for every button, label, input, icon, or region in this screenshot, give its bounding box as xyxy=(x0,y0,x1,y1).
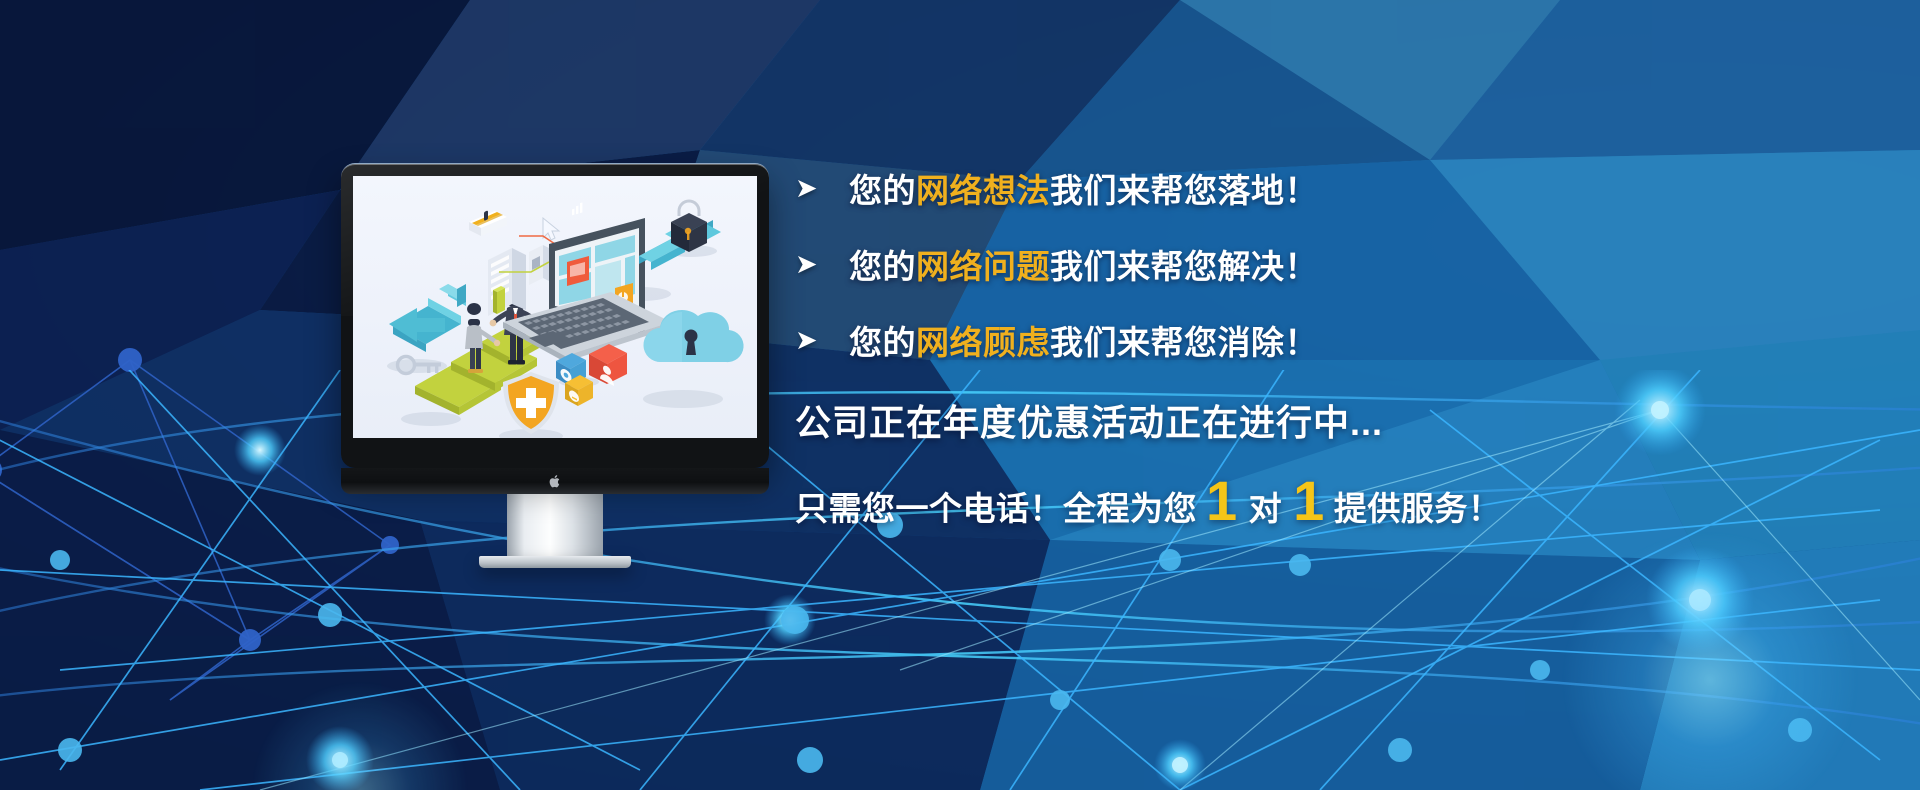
cta-lead: 只需您一个电话！全程为您 xyxy=(795,482,1197,530)
bullet-3-pre: 您的 xyxy=(849,324,916,361)
promo-line: 公司正在年度优惠活动正在进行中... xyxy=(795,394,1835,446)
bullet-line-3: ➤ 您的网络顾虑我们来帮您消除！ xyxy=(795,302,1835,378)
bullet-1-pre: 您的 xyxy=(849,172,916,209)
monitor-stand-neck xyxy=(507,494,603,556)
monitor-chin xyxy=(341,468,769,494)
arrow-bullet-icon: ➤ xyxy=(795,175,829,202)
isometric-security-illustration xyxy=(353,176,757,438)
cta-tail: 提供服务！ xyxy=(1334,482,1502,530)
apple-logo-icon xyxy=(549,474,562,489)
cta-mid: 对 xyxy=(1247,482,1285,530)
apple-display-monitor xyxy=(341,163,769,568)
monitor-stand-foot xyxy=(479,556,631,568)
cta-line: 只需您一个电话！全程为您 1 对 1 提供服务！ xyxy=(795,482,1835,530)
banner-stage: ➤ 您的网络想法我们来帮您落地！ ➤ 您的网络问题我们来帮您解决！ ➤ 您的网络… xyxy=(0,0,1920,790)
document-list xyxy=(488,248,526,316)
monitor-screen xyxy=(353,176,757,438)
bullet-text-2: 您的网络问题我们来帮您解决！ xyxy=(849,240,1318,288)
monitor-bezel xyxy=(341,163,769,468)
bullet-3-highlight: 网络顾虑 xyxy=(916,324,1050,361)
bullet-2-pre: 您的 xyxy=(849,248,916,285)
arrow-bullet-icon: ➤ xyxy=(795,251,829,278)
marketing-copy: ➤ 您的网络想法我们来帮您落地！ ➤ 您的网络问题我们来帮您解决！ ➤ 您的网络… xyxy=(795,150,1835,530)
bullet-2-highlight: 网络问题 xyxy=(916,248,1050,285)
bullet-text-3: 您的网络顾虑我们来帮您消除！ xyxy=(849,316,1318,364)
bullet-2-post: 我们来帮您解决！ xyxy=(1050,248,1318,285)
bullet-line-1: ➤ 您的网络想法我们来帮您落地！ xyxy=(795,150,1835,226)
arrow-bullet-icon: ➤ xyxy=(795,327,829,354)
bullet-3-post: 我们来帮您消除！ xyxy=(1050,324,1318,361)
bullet-text-1: 您的网络想法我们来帮您落地！ xyxy=(849,164,1318,212)
bullet-1-highlight: 网络想法 xyxy=(916,172,1050,209)
bullet-1-post: 我们来帮您落地！ xyxy=(1050,172,1318,209)
bullet-line-2: ➤ 您的网络问题我们来帮您解决！ xyxy=(795,226,1835,302)
